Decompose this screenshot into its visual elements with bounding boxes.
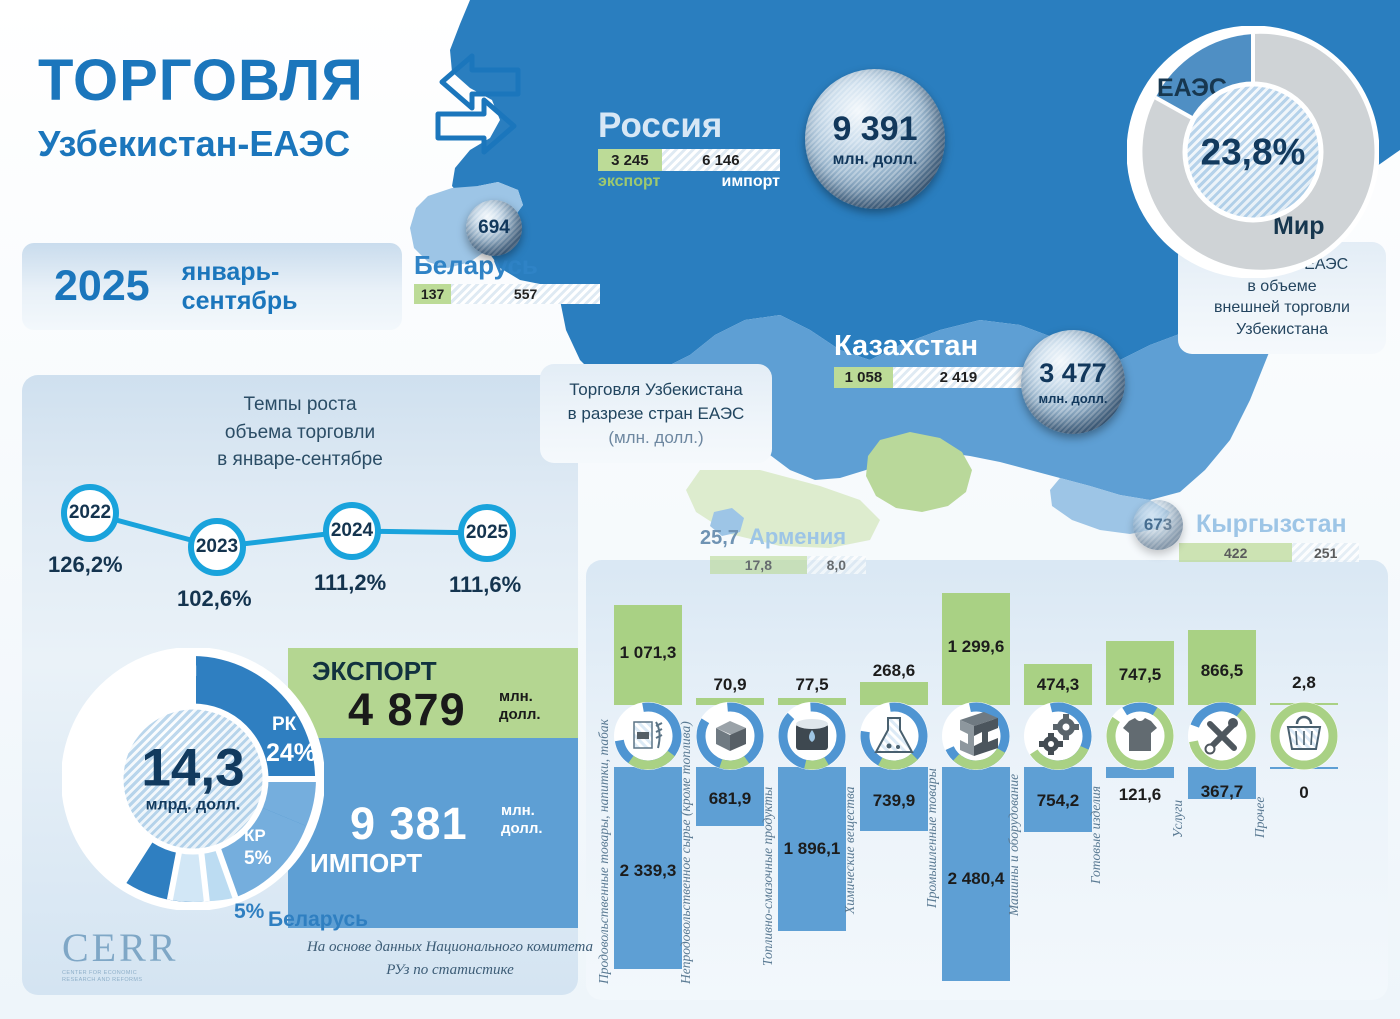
trade-bar-kazakhstan: 1 058 2 419 [834, 367, 1024, 388]
page-title: ТОРГОВЛЯ [38, 52, 364, 110]
tools-icon [1185, 699, 1259, 773]
total-value-armenia: 25,7 [700, 527, 739, 550]
total-sphere-kazakhstan: 3 477 млн. долл. [1021, 330, 1125, 434]
svg-text:2,8: 2,8 [1292, 673, 1316, 692]
svg-text:1 071,3: 1 071,3 [620, 643, 677, 662]
trade-bar-kyrgyzstan: 422 251 [1179, 543, 1359, 562]
main-donut-unit: млрд. долл. [146, 797, 241, 815]
gears-icon [1020, 698, 1097, 775]
svg-text:0: 0 [1299, 783, 1308, 802]
import-banner-unit: млн.долл. [501, 802, 543, 838]
sphere-value-kyrgyzstan: 673 [1144, 515, 1172, 535]
main-donut-pct-rk: 24% [266, 739, 316, 768]
svg-text:747,5: 747,5 [1119, 665, 1162, 684]
growth-node-2023: 2023 [188, 518, 246, 576]
svg-text:2 480,4: 2 480,4 [948, 869, 1005, 888]
country-name-kyrgyzstan: Кыргызстан [1196, 512, 1376, 537]
export-banner-unit: млн.долл. [499, 688, 541, 724]
year-label: 2025 [54, 265, 150, 308]
main-donut-label-kr: КР [244, 826, 266, 846]
trade-bar-russia: 3 245 6 146 [598, 149, 780, 171]
cerr-wordmark: CERR [62, 928, 178, 968]
cat-label-4: Промышленные товары [924, 768, 939, 909]
growth-value-2022: 126,2% [48, 552, 123, 578]
svg-text:1 896,1: 1 896,1 [784, 839, 841, 858]
tshirt-icon [1100, 696, 1180, 776]
eaeu-share-donut: ЕАЭС Мир 23,8% [1127, 26, 1379, 278]
export-value-kazakhstan: 1 058 [834, 367, 893, 388]
svg-text:681,9: 681,9 [709, 789, 752, 808]
center-note-line2: в разрезе стран ЕАЭС [550, 402, 762, 426]
export-value-russia: 3 245 [598, 149, 662, 171]
main-donut-pct-kr: 5% [244, 848, 271, 870]
sphere-unit-russia: млн. долл. [833, 151, 918, 169]
main-donut-label-rk: РК [272, 714, 296, 736]
svg-text:754,2: 754,2 [1037, 791, 1080, 810]
basket-icon [1270, 702, 1338, 770]
steel-beam-icon [936, 696, 1015, 775]
center-note-box: Торговля Узбекистана в разрезе стран ЕАЭ… [540, 364, 772, 463]
import-value-kyrgyzstan: 251 [1292, 543, 1359, 562]
country-name-armenia: Армения [749, 526, 846, 548]
total-sphere-belarus: 694 [466, 200, 522, 256]
import-value-russia: 6 146 [662, 149, 780, 171]
exchange-arrows-icon [418, 48, 538, 163]
bar-group-4: 1 299,6 2 480,4 [942, 593, 1010, 981]
country-name-kazakhstan: Казахстан [834, 332, 1024, 361]
svg-text:268,6: 268,6 [873, 661, 916, 680]
growth-value-2025: 111,6% [449, 572, 521, 598]
cat-label-8: Прочее [1252, 797, 1267, 839]
main-donut-pct-belarus: 5% [234, 900, 264, 924]
growth-chart-title: Темпы ростаобъема торговлив январе-сентя… [22, 391, 578, 474]
country-block-belarus: Беларусь 137 557 [414, 252, 600, 304]
growth-node-2022: 2022 [61, 484, 119, 542]
fuel-barrel-icon [772, 696, 851, 775]
import-banner-value: 9 381 [350, 798, 468, 850]
food-icon [607, 695, 688, 776]
country-block-kazakhstan: Казахстан 1 058 2 419 [834, 332, 1024, 388]
raw-material-icon [690, 696, 771, 777]
total-sphere-kyrgyzstan: 673 [1133, 500, 1183, 550]
svg-text:474,3: 474,3 [1037, 675, 1080, 694]
svg-text:866,5: 866,5 [1201, 661, 1244, 680]
cat-label-6: Готовые изделия [1088, 786, 1103, 885]
import-banner-label: ИМПОРТ [310, 848, 422, 879]
country-name-belarus: Беларусь [414, 252, 600, 278]
total-sphere-russia: 9 391 млн. долл. [805, 69, 945, 209]
main-country-donut: 14,3 млрд. долл. [62, 648, 324, 910]
source-note: На основе данных Национального комитетаР… [300, 936, 600, 981]
growth-value-2024: 111,2% [314, 570, 386, 596]
main-donut-label-russia: Россия [130, 660, 197, 682]
sphere-value-belarus: 694 [478, 217, 510, 239]
import-value-kazakhstan: 2 419 [893, 367, 1024, 388]
cat-label-5: Машины и оборудование [1006, 774, 1021, 917]
trade-bar-belarus: 137 557 [414, 284, 600, 304]
growth-node-2025: 2025 [458, 504, 516, 562]
center-note-line1: Торговля Узбекистана [550, 378, 762, 402]
main-donut-pct-russia: 66% [72, 718, 118, 745]
growth-node-2024: 2024 [323, 502, 381, 560]
svg-text:1 299,6: 1 299,6 [948, 637, 1005, 656]
growth-value-2023: 102,6% [177, 586, 252, 612]
category-bar-chart: 1 071,3 2 339,3 70,9 681,9 77,5 1 896,1 [586, 566, 1388, 998]
import-label: импорт [721, 173, 780, 191]
country-block-kyrgyzstan: Кыргызстан 422 251 [1196, 512, 1376, 562]
page-subtitle: Узбекистан-ЕАЭС [38, 126, 364, 162]
country-block-russia: Россия 3 245 6 146 экспорт импорт [598, 108, 788, 191]
cerr-tagline: CENTER FOR ECONOMICRESEARCH AND REFORMS [62, 970, 178, 984]
title-block: ТОРГОВЛЯ Узбекистан-ЕАЭС [38, 52, 364, 162]
country-name-russia: Россия [598, 108, 788, 143]
date-pill: 2025 январь-сентябрь [22, 243, 402, 330]
export-banner-label: ЭКСПОРТ [312, 656, 437, 687]
cat-label-7: Услуги [1170, 800, 1185, 838]
main-donut-label-belarus: Беларусь [268, 908, 368, 932]
cat-label-2: Топливно-смазочные продукты [760, 787, 775, 966]
svg-text:2 339,3: 2 339,3 [620, 861, 677, 880]
main-donut-value: 14,3 [141, 743, 244, 793]
svg-text:367,7: 367,7 [1201, 782, 1244, 801]
cat-label-3: Химические вещества [842, 786, 857, 915]
export-banner-value: 4 879 [348, 684, 466, 736]
center-note-line3: (млн. долл.) [550, 426, 762, 450]
sphere-value-kazakhstan: 3 477 [1039, 358, 1107, 389]
cat-label-1: Непродовольственное сырье (кроме топлива… [678, 721, 693, 985]
export-value-kyrgyzstan: 422 [1179, 543, 1292, 562]
svg-text:77,5: 77,5 [795, 675, 828, 694]
svg-text:739,9: 739,9 [873, 791, 916, 810]
import-banner: 9 381 млн.долл. ИМПОРТ [288, 738, 578, 928]
bar-group-0: 1 071,3 2 339,3 [614, 605, 682, 969]
bar-chart-svg: 1 071,3 2 339,3 70,9 681,9 77,5 1 896,1 [586, 566, 1388, 998]
period-label: январь-сентябрь [182, 258, 298, 316]
infographic-root: ТОРГОВЛЯ Узбекистан-ЕАЭС 2025 январь-сен… [0, 0, 1400, 1019]
export-value-belarus: 137 [414, 284, 451, 304]
export-banner: ЭКСПОРТ 4 879 млн.долл. [288, 648, 578, 738]
donut-center-value: 23,8% [1183, 82, 1324, 223]
sphere-unit-kazakhstan: млн. долл. [1039, 391, 1108, 406]
import-value-belarus: 557 [451, 284, 600, 304]
svg-text:121,6: 121,6 [1119, 785, 1162, 804]
sphere-value-russia: 9 391 [832, 110, 917, 149]
cerr-logo: CERR CENTER FOR ECONOMICRESEARCH AND REF… [62, 928, 178, 984]
export-label: экспорт [598, 173, 660, 191]
chemical-flask-icon [853, 695, 935, 777]
svg-text:70,9: 70,9 [713, 675, 746, 694]
